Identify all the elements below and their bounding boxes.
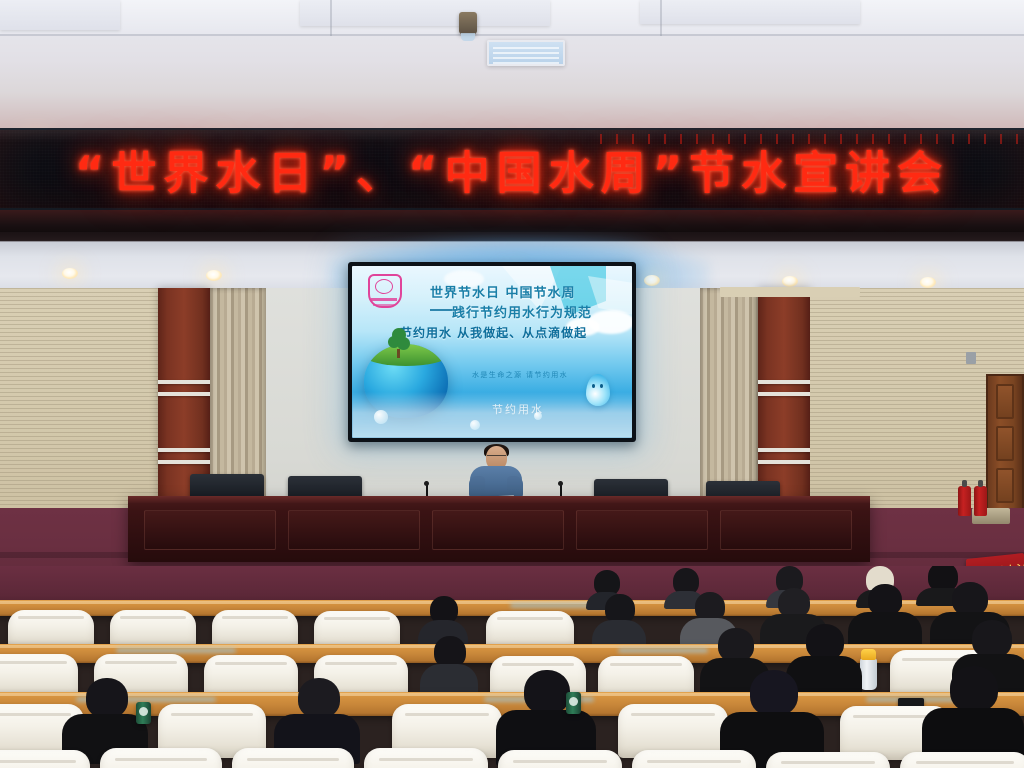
microphone-head-icon <box>558 481 563 486</box>
ceiling-seam <box>330 0 332 36</box>
fire-extinguisher <box>958 486 971 516</box>
audience-chair <box>364 748 488 768</box>
glasses-icon <box>487 455 506 460</box>
audience-chair <box>900 752 1024 768</box>
wall-fixture <box>966 352 976 364</box>
microphone-head-icon <box>424 481 429 486</box>
thermos-bottle <box>136 702 151 724</box>
ceiling-camera-icon <box>459 12 477 34</box>
ceiling-downlight <box>644 275 660 286</box>
audience-person <box>592 594 646 648</box>
slide-title-line2: 践行节约用水行为规范 <box>452 302 632 321</box>
audience-chair <box>100 748 222 768</box>
led-banner: “世界水日”、“中国水周”节水宣讲会 <box>0 128 1024 210</box>
ceiling-vent-icon <box>487 40 565 66</box>
podium-panel <box>144 510 276 550</box>
led-banner-text: “世界水日”、“中国水周”节水宣讲会 <box>0 137 1024 202</box>
ceiling-seam <box>0 34 1024 36</box>
bubble <box>374 410 388 424</box>
thermos-bottle <box>566 692 581 714</box>
audience-person <box>922 666 1024 764</box>
screen-content: 世界节水日 中国节水周 践行节约用水行为规范 节约用水 从我做起、从点滴做起 水… <box>352 266 632 438</box>
bubble <box>534 412 542 420</box>
audience-chair <box>212 610 298 648</box>
ceiling-downlight <box>920 277 936 288</box>
wall-trim <box>720 287 860 297</box>
water-drop-mascot-icon <box>586 374 610 406</box>
audience-chair <box>110 610 196 648</box>
podium-table <box>128 496 870 562</box>
ceiling-downlight <box>206 270 222 281</box>
bubble <box>470 420 480 430</box>
audience-chair <box>766 752 890 768</box>
slide-caption: 水是生命之源 请节约用水 <box>472 370 632 380</box>
auditorium-photo: “世界水日”、“中国水周”节水宣讲会 <box>0 0 1024 768</box>
audience-chair <box>0 750 90 768</box>
water-bottle <box>860 658 877 690</box>
ceiling-panel <box>640 0 860 24</box>
ceiling-downlight <box>62 268 78 279</box>
podium-top-edge <box>128 496 870 503</box>
projection-screen: 世界节水日 中国节水周 践行节约用水行为规范 节约用水 从我做起、从点滴做起 水… <box>348 262 636 442</box>
audience-person <box>496 670 596 762</box>
ceiling-panel <box>300 0 550 26</box>
audience-chair <box>232 748 354 768</box>
fire-extinguisher <box>974 486 987 516</box>
podium-panel <box>576 510 708 550</box>
slide-title-line1: 世界节水日 中国节水周 <box>430 282 632 301</box>
podium-panel <box>720 510 852 550</box>
audience-area <box>0 566 1024 768</box>
speaker-person <box>470 446 522 502</box>
ceiling-panel <box>0 0 120 30</box>
ceiling-downlight <box>782 276 798 287</box>
audience-chair <box>498 750 622 768</box>
slide-subtitle: 节约用水 从我做起、从点滴做起 <box>400 324 632 341</box>
audience-chair <box>632 750 756 768</box>
podium-panel <box>432 510 564 550</box>
audience-chair <box>8 610 94 648</box>
school-emblem-icon <box>368 274 402 308</box>
ceiling-seam <box>660 0 662 36</box>
audience-person <box>420 636 478 698</box>
podium-panel <box>288 510 420 550</box>
tree-graphic <box>388 328 410 358</box>
